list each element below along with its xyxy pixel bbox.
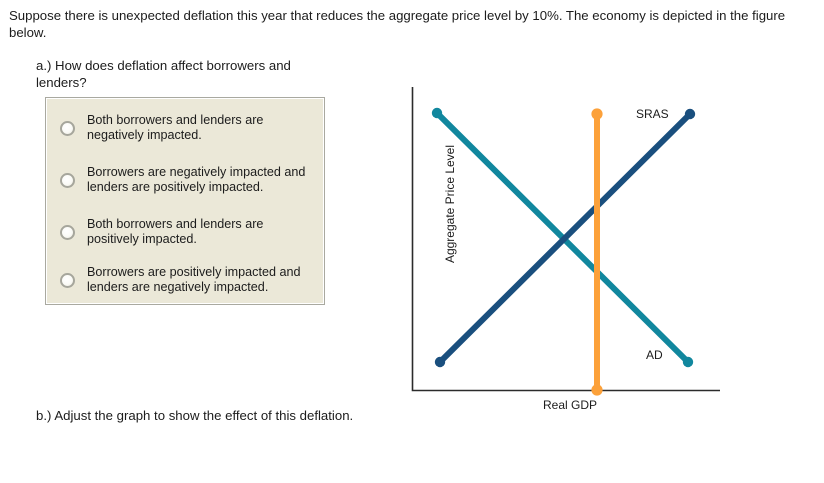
- x-axis-label: Real GDP: [510, 398, 630, 412]
- choice-label-3: Both borrowers and lenders are positivel…: [87, 217, 326, 247]
- y-axis-label: Aggregate Price Level: [443, 114, 457, 294]
- choice-option-4[interactable]: Borrowers are positively impacted and le…: [46, 255, 326, 305]
- radio-button-3[interactable]: [60, 225, 75, 240]
- choice-option-3[interactable]: Both borrowers and lenders are positivel…: [46, 209, 326, 255]
- sras-curve-label: SRAS: [636, 107, 669, 121]
- radio-button-1[interactable]: [60, 121, 75, 136]
- ad-handle-end[interactable]: [683, 357, 693, 367]
- ad-sras-graph[interactable]: Aggregate Price Level Real GDP SRAS AD: [380, 85, 740, 425]
- sras-handle-end[interactable]: [685, 109, 695, 119]
- choice-option-2[interactable]: Borrowers are negatively impacted and le…: [46, 151, 326, 209]
- ad-handle-start[interactable]: [432, 108, 442, 118]
- lras-handle-bottom[interactable]: [591, 384, 602, 395]
- answer-choices-box: Both borrowers and lenders are negativel…: [45, 97, 325, 305]
- question-b-text: b.) Adjust the graph to show the effect …: [36, 408, 366, 425]
- lras-handle-top[interactable]: [591, 108, 602, 119]
- worksheet-page: Suppose there is unexpected deflation th…: [0, 0, 824, 483]
- graph-canvas[interactable]: [380, 85, 740, 425]
- choice-option-1[interactable]: Both borrowers and lenders are negativel…: [46, 105, 326, 151]
- lras-vertical-line[interactable]: [591, 108, 602, 395]
- prompt-text: Suppose there is unexpected deflation th…: [9, 8, 809, 41]
- ad-curve-label: AD: [646, 348, 663, 362]
- choice-label-2: Borrowers are negatively impacted and le…: [87, 165, 326, 195]
- radio-button-2[interactable]: [60, 173, 75, 188]
- sras-handle-start[interactable]: [435, 357, 445, 367]
- radio-button-4[interactable]: [60, 273, 75, 288]
- choice-label-4: Borrowers are positively impacted and le…: [87, 265, 326, 295]
- question-a-text: a.) How does deflation affect borrowers …: [36, 58, 336, 91]
- choice-label-1: Both borrowers and lenders are negativel…: [87, 113, 326, 143]
